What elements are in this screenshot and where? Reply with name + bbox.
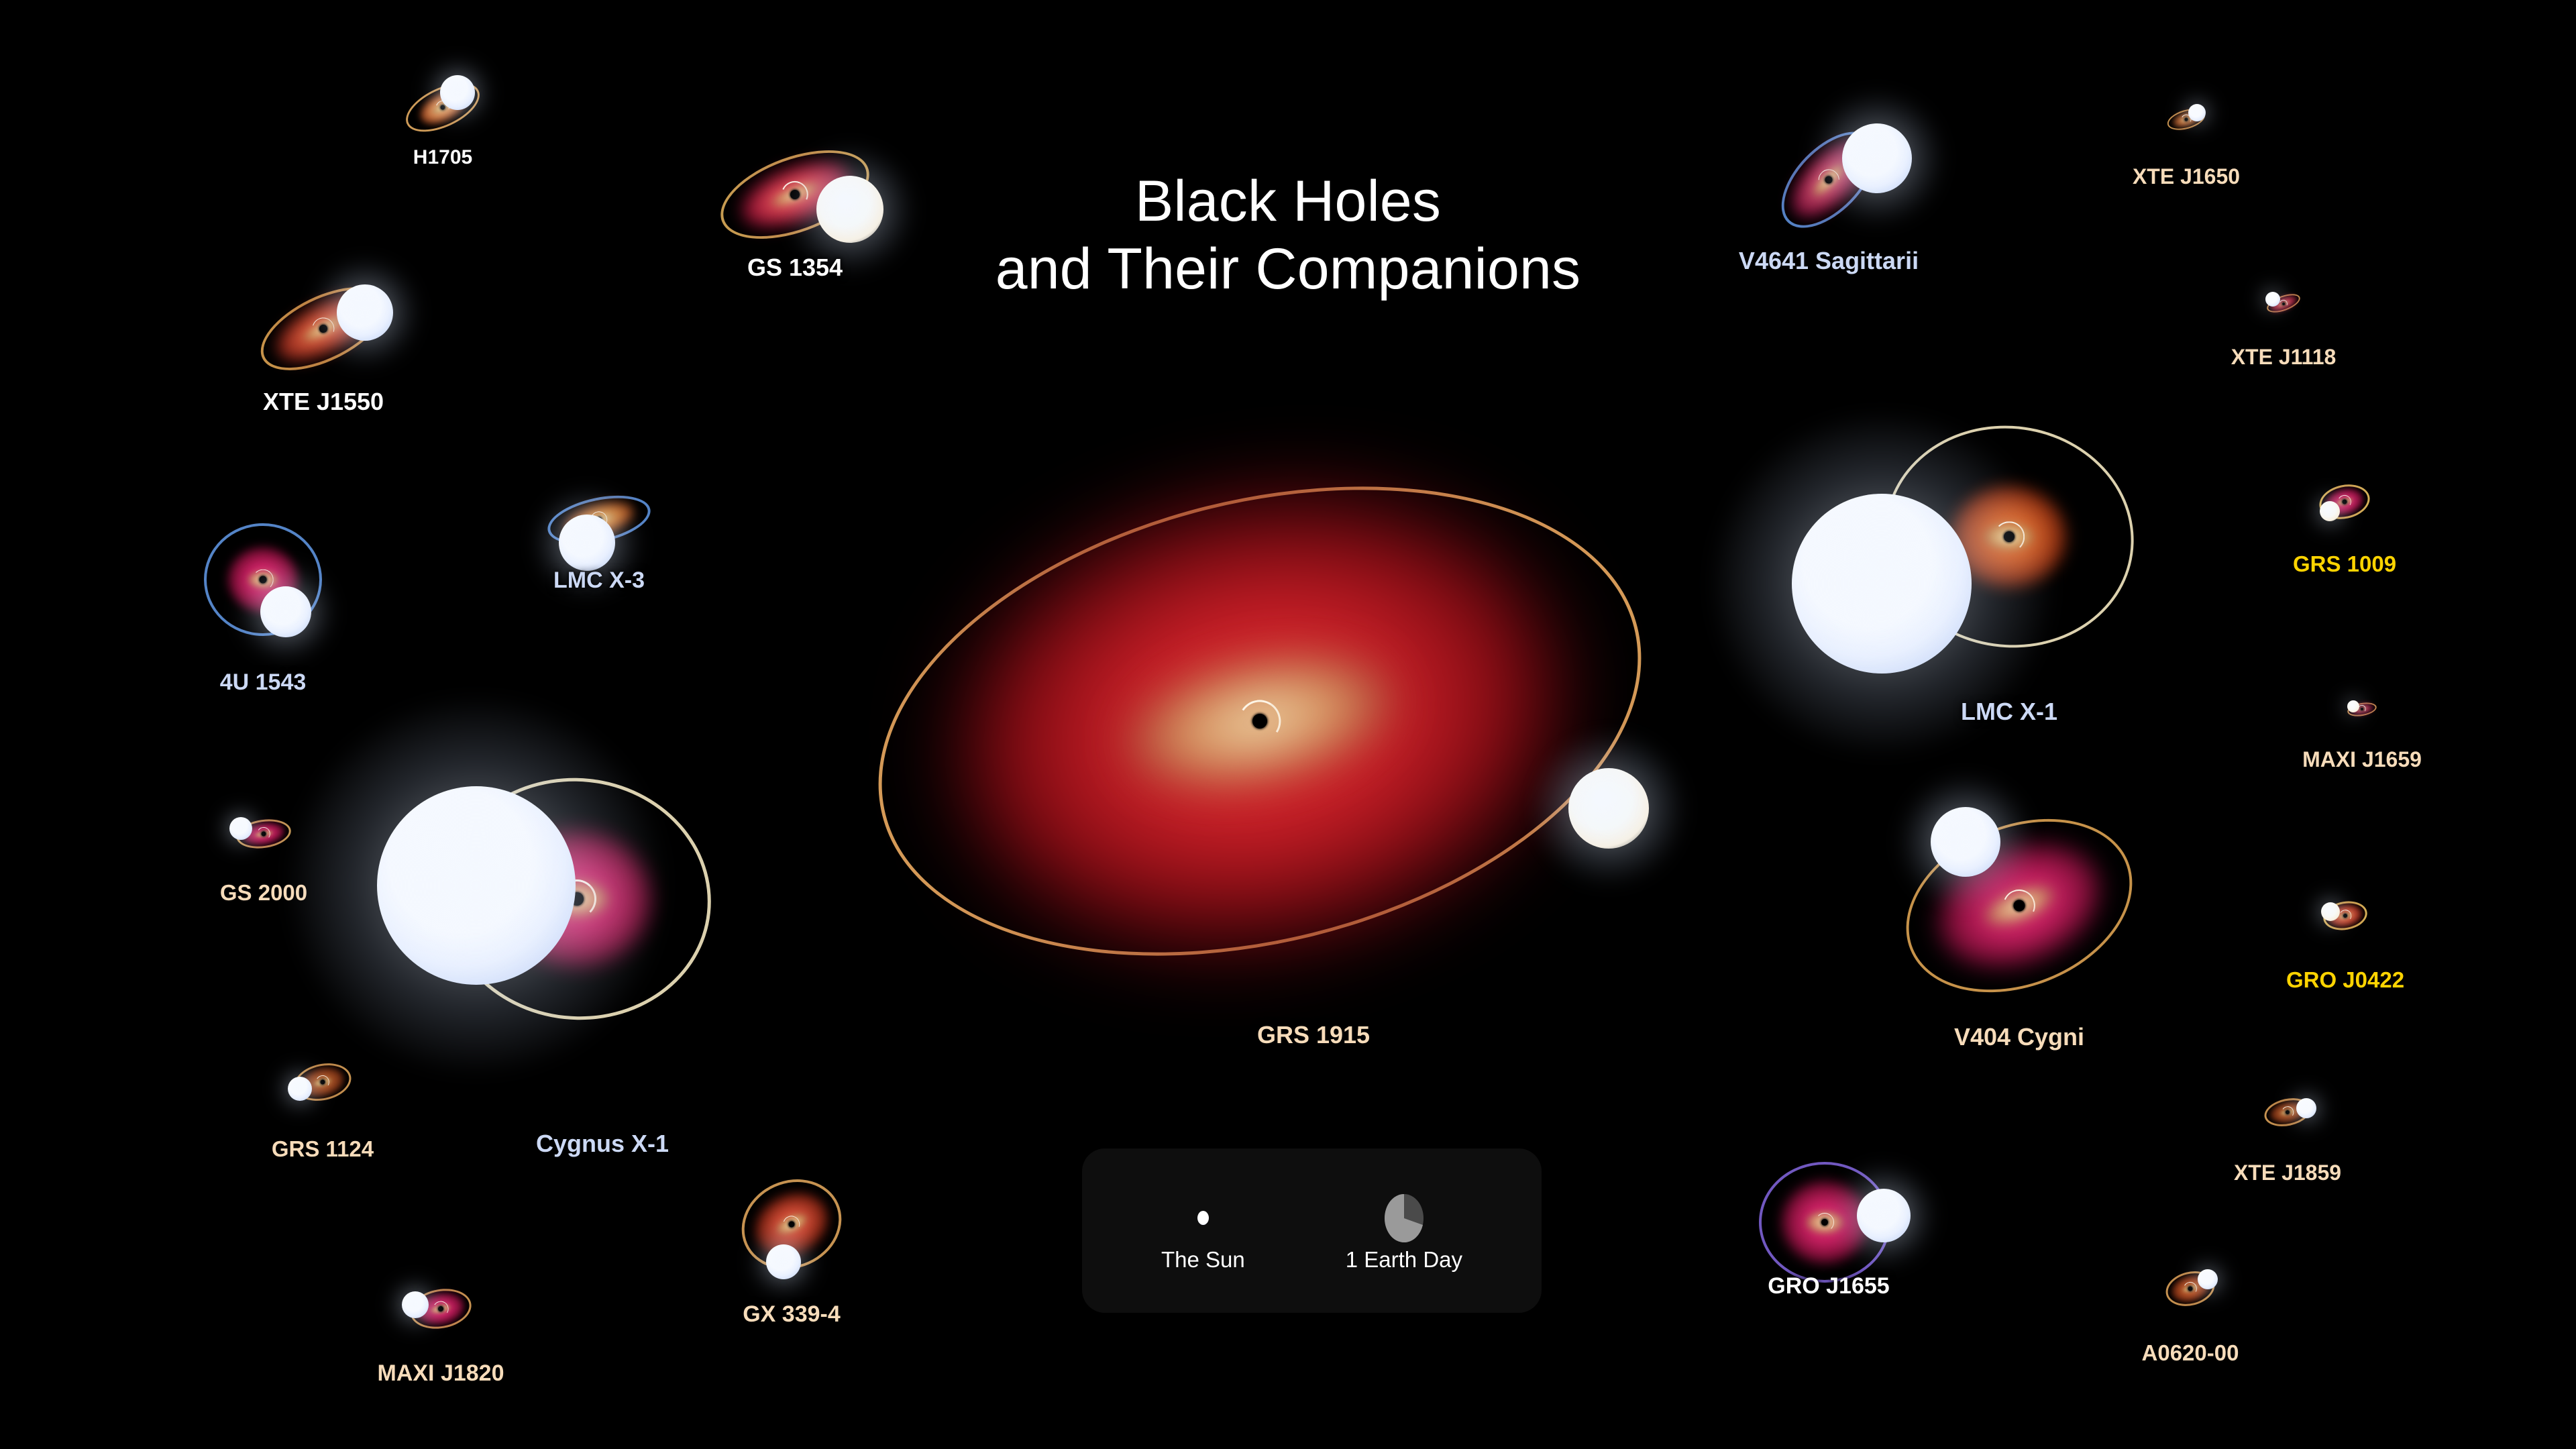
star-glow xyxy=(1532,732,1685,885)
companion-star xyxy=(1857,1189,1911,1242)
system-label-gx-339-4[interactable]: GX 339-4 xyxy=(743,1301,841,1328)
companion-star xyxy=(816,176,883,243)
companion-star xyxy=(2320,501,2340,521)
companion-star xyxy=(1842,123,1912,193)
star-glow xyxy=(2342,695,2365,718)
star-glow xyxy=(1833,1165,1935,1267)
companion-star xyxy=(260,586,311,637)
companion-star xyxy=(337,284,393,341)
system-label-maxi-j1820[interactable]: MAXI J1820 xyxy=(378,1360,504,1387)
legend-item-sun: The Sun xyxy=(1161,1189,1245,1273)
star-glow xyxy=(425,60,491,126)
legend-sun-label: The Sun xyxy=(1161,1247,1245,1273)
star-glow xyxy=(277,1066,323,1112)
system-label-maxi-j1659[interactable]: MAXI J1659 xyxy=(2302,747,2422,772)
system-label-xte-j1550[interactable]: XTE J1550 xyxy=(263,388,384,416)
scale-legend-panel: The Sun 1 Earth Day xyxy=(1082,1148,1542,1313)
companion-star xyxy=(377,786,576,985)
earth-day-pie-icon xyxy=(1384,1193,1424,1243)
companion-star xyxy=(229,817,252,840)
system-label-xte-j1118[interactable]: XTE J1118 xyxy=(2231,345,2337,370)
companion-star xyxy=(402,1291,429,1318)
star-glow xyxy=(288,697,665,1074)
title-line-1: Black Holes xyxy=(1135,169,1441,233)
star-glow xyxy=(751,1229,817,1295)
system-label-grs-1124[interactable]: GRS 1124 xyxy=(272,1136,374,1162)
star-glow xyxy=(237,563,334,660)
companion-star xyxy=(440,75,475,110)
system-label-gs-1354[interactable]: GS 1354 xyxy=(747,254,843,282)
system-label-4u-1543[interactable]: 4U 1543 xyxy=(220,669,307,696)
system-label-lmc-x-1[interactable]: LMC X-1 xyxy=(1961,698,2057,726)
system-label-xte-j1650[interactable]: XTE J1650 xyxy=(2133,164,2240,189)
star-glow xyxy=(311,259,419,366)
companion-star xyxy=(2265,292,2280,307)
legend-earth-day-label: 1 Earth Day xyxy=(1346,1247,1462,1273)
companion-star xyxy=(766,1244,801,1279)
star-glow xyxy=(1899,775,2032,908)
system-label-grs-1009[interactable]: GRS 1009 xyxy=(2293,551,2396,577)
companion-star xyxy=(2347,700,2359,712)
companion-star xyxy=(559,515,615,571)
legend-item-earth-day: 1 Earth Day xyxy=(1346,1189,1462,1273)
star-glow xyxy=(219,807,263,851)
system-label-v404-cygni[interactable]: V404 Cygni xyxy=(1954,1023,2084,1051)
companion-star xyxy=(2188,104,2206,121)
sun-dot-icon xyxy=(1197,1211,1209,1225)
system-label-xte-j1859[interactable]: XTE J1859 xyxy=(2234,1161,2341,1185)
system-label-gro-j0422[interactable]: GRO J0422 xyxy=(2286,967,2404,993)
sky-canvas: Black Holes and Their Companions H1705GS… xyxy=(0,0,2576,1449)
system-label-lmc-x-3[interactable]: LMC X-3 xyxy=(553,568,645,594)
system-label-a0620-00[interactable]: A0620-00 xyxy=(2142,1340,2239,1366)
black-hole xyxy=(1821,1219,1828,1226)
star-glow xyxy=(2259,285,2287,313)
star-glow xyxy=(2288,1089,2326,1128)
system-label-gro-j1655[interactable]: GRO J1655 xyxy=(1768,1273,1889,1299)
star-glow xyxy=(2311,492,2349,531)
companion-star xyxy=(1568,768,1649,849)
star-glow xyxy=(2189,1260,2227,1299)
star-glow xyxy=(2180,96,2213,129)
companion-star xyxy=(2198,1269,2218,1289)
star-glow xyxy=(1811,92,1943,225)
system-label-grs-1915[interactable]: GRS 1915 xyxy=(1257,1021,1370,1049)
system-label-h1705[interactable]: H1705 xyxy=(413,146,472,169)
system-label-cygnus-x-1[interactable]: Cygnus X-1 xyxy=(536,1130,669,1158)
system-label-v4641-sagittarii[interactable]: V4641 Sagittarii xyxy=(1739,247,1919,275)
companion-star xyxy=(1792,494,1972,674)
star-glow xyxy=(390,1279,441,1330)
companion-star xyxy=(1931,807,2000,877)
companion-star xyxy=(2296,1098,2316,1118)
companion-star xyxy=(288,1077,312,1101)
companion-star xyxy=(2321,902,2340,921)
star-glow xyxy=(2312,894,2348,929)
